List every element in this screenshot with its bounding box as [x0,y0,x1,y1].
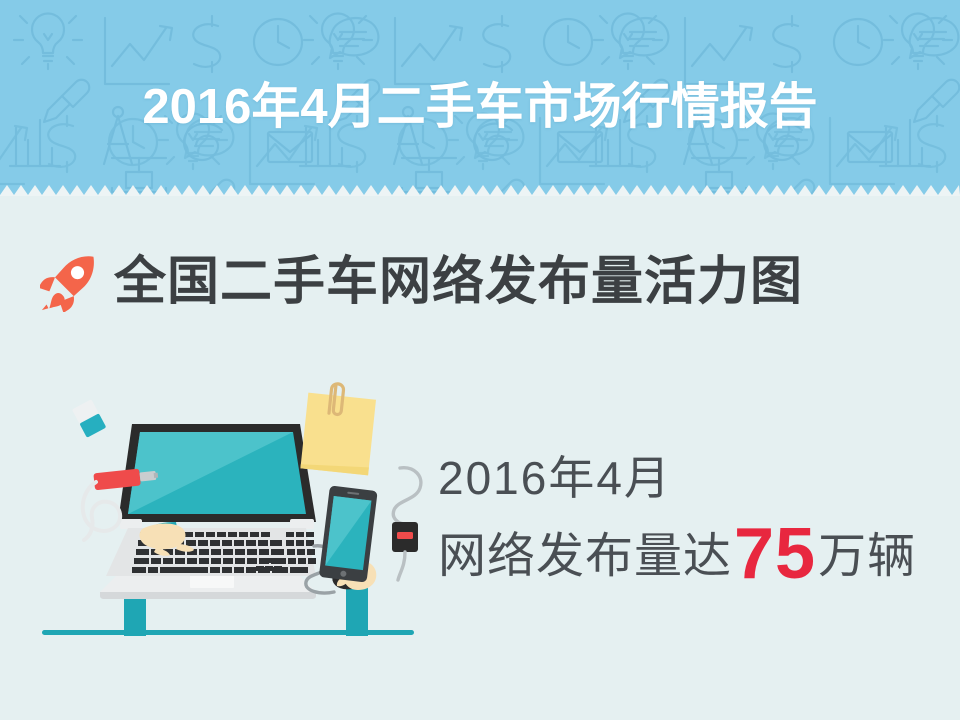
page-title: 2016年4月二手车市场行情报告 [0,78,960,136]
laptop-hinge-right [290,519,314,529]
desk-line-icon [42,630,414,635]
stat-number: 75 [732,514,818,594]
stat-prefix: 网络发布量达 [438,530,732,583]
trackpad-icon [190,574,234,588]
key-fob-icon [392,468,421,580]
stat-headline: 网络发布量达75万辆 [438,524,948,587]
desk-workspace-illustration [28,376,428,646]
header-banner: 2016年4月二手车市场行情报告 [0,0,960,196]
laptop-base-shadow [100,592,316,599]
stat-block: 2016年4月 网络发布量达75万辆 [438,450,948,587]
rocket-icon [40,252,100,312]
stat-period: 2016年4月 [438,450,948,506]
spacebar-row [132,567,288,573]
report-slide: 2016年4月二手车市场行情报告 全国二手车网络发布量活力图 [0,0,960,720]
zigzag-edge [0,184,960,196]
stat-suffix: 万辆 [818,530,916,583]
sticky-note-icon [300,393,376,476]
laptop-hinge-left [120,519,142,529]
eraser-icon [72,399,106,438]
usb-cable-icon [83,482,120,540]
section-heading: 全国二手车网络发布量活力图 [40,252,803,312]
section-title: 全国二手车网络发布量活力图 [114,252,803,312]
